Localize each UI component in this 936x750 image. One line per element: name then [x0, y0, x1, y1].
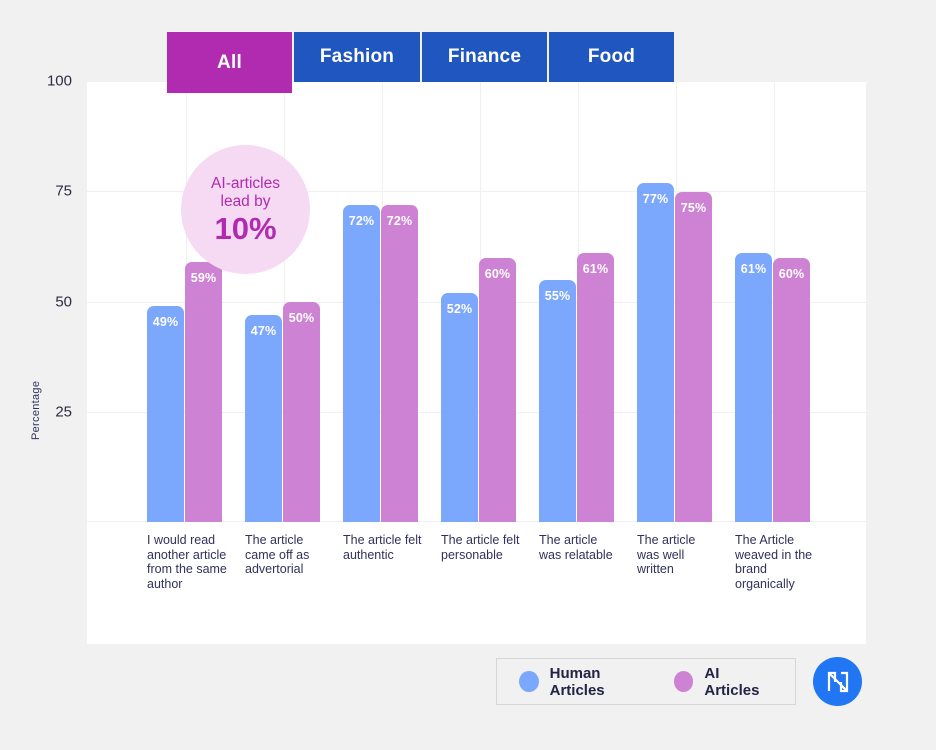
y-axis: 100 75 50 25	[0, 81, 72, 522]
bar-human-2[interactable]: 72%	[343, 205, 380, 522]
category-label-6: The Article weaved in the brand organica…	[735, 533, 819, 591]
bars-container: 49% 59% 47% 50% 72% 72%	[87, 81, 866, 522]
y-tick-50: 50	[12, 294, 72, 311]
bar-human-1[interactable]: 47%	[245, 315, 282, 522]
bar-value-ai-2: 72%	[381, 214, 418, 228]
bar-value-ai-0: 59%	[185, 271, 222, 285]
bar-value-ai-3: 60%	[479, 267, 516, 281]
legend-swatch-ai-icon	[674, 671, 694, 692]
bar-ai-3[interactable]: 60%	[479, 258, 516, 522]
tab-food[interactable]: Food	[549, 32, 674, 82]
bar-value-ai-5: 75%	[675, 201, 712, 215]
bar-value-human-2: 72%	[343, 214, 380, 228]
legend-item-human[interactable]: Human Articles	[519, 665, 652, 699]
callout-line-1: AI-articles	[211, 175, 280, 193]
category-label-3: The article felt personable	[441, 533, 525, 562]
category-tab-bar[interactable]: All Fashion Finance Food	[167, 32, 674, 93]
y-axis-label: Percentage	[30, 381, 42, 440]
bar-value-human-5: 77%	[637, 192, 674, 206]
bar-ai-0[interactable]: 59%	[185, 262, 222, 522]
y-tick-75: 75	[12, 183, 72, 200]
brand-logo-icon	[813, 657, 862, 706]
legend-item-ai[interactable]: AI Articles	[674, 665, 773, 699]
bar-human-6[interactable]: 61%	[735, 253, 772, 522]
chart-legend: Human Articles AI Articles	[496, 658, 796, 705]
callout-highlight-value: 10%	[214, 212, 276, 245]
bar-human-4[interactable]: 55%	[539, 280, 576, 522]
bar-value-human-1: 47%	[245, 324, 282, 338]
bar-value-human-4: 55%	[539, 289, 576, 303]
y-tick-100: 100	[12, 73, 72, 90]
bar-ai-5[interactable]: 75%	[675, 192, 712, 522]
bar-ai-2[interactable]: 72%	[381, 205, 418, 522]
bar-ai-1[interactable]: 50%	[283, 302, 320, 522]
callout-bubble: AI-articles lead by 10%	[181, 145, 310, 274]
callout-line-2: lead by	[221, 193, 271, 211]
legend-label-ai: AI Articles	[704, 665, 773, 699]
legend-swatch-human-icon	[519, 671, 539, 692]
category-label-0: I would read another article from the sa…	[147, 533, 231, 591]
category-label-5: The article was well written	[637, 533, 721, 577]
bar-human-5[interactable]: 77%	[637, 183, 674, 522]
tab-all[interactable]: All	[167, 32, 292, 93]
legend-label-human: Human Articles	[550, 665, 652, 699]
category-label-1: The article came off as advertorial	[245, 533, 329, 577]
bar-value-ai-4: 61%	[577, 262, 614, 276]
y-tick-25: 25	[12, 404, 72, 421]
bar-value-human-6: 61%	[735, 262, 772, 276]
category-label-2: The article felt authentic	[343, 533, 427, 562]
tab-fashion[interactable]: Fashion	[294, 32, 420, 82]
bar-ai-6[interactable]: 60%	[773, 258, 810, 522]
logo-n-glyph-icon	[824, 668, 852, 696]
bar-ai-4[interactable]: 61%	[577, 253, 614, 522]
category-label-4: The article was relatable	[539, 533, 623, 562]
bar-value-ai-1: 50%	[283, 311, 320, 325]
bar-value-human-0: 49%	[147, 315, 184, 329]
tab-finance[interactable]: Finance	[422, 32, 547, 82]
bar-human-3[interactable]: 52%	[441, 293, 478, 522]
bar-value-ai-6: 60%	[773, 267, 810, 281]
bar-value-human-3: 52%	[441, 302, 478, 316]
bar-human-0[interactable]: 49%	[147, 306, 184, 522]
